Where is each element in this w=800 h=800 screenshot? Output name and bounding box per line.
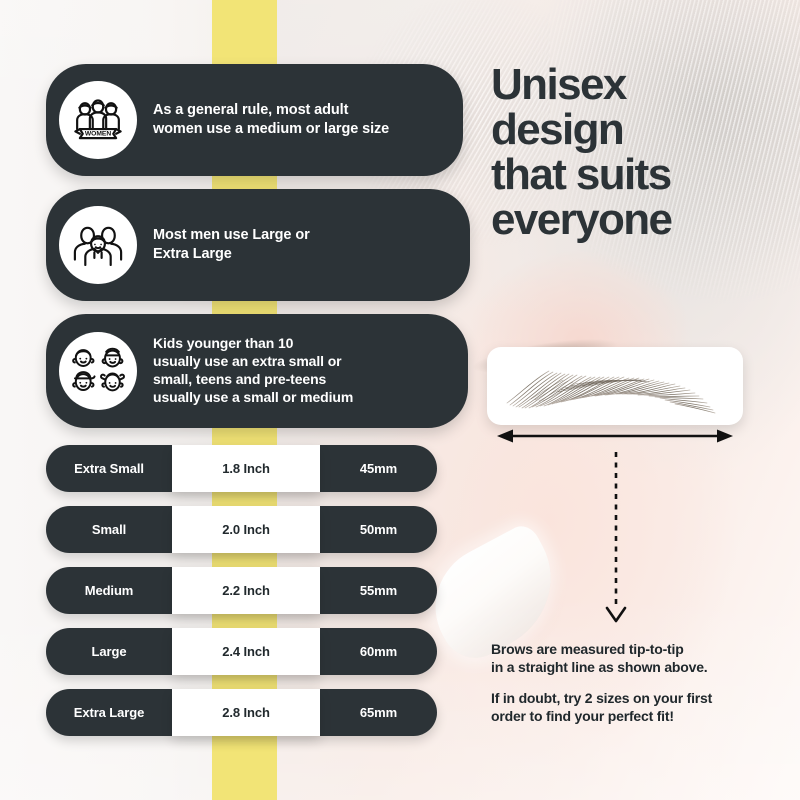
info-card-women-text: As a general rule, most adult women use … — [153, 101, 389, 139]
women-group-icon: WOMEN — [59, 81, 137, 159]
info-card-women: WOMEN As a general rule, most adult wome… — [46, 64, 463, 176]
infographic-canvas: WOMEN As a general rule, most adult wome… — [0, 0, 800, 800]
table-row: Extra Small 1.8 Inch 45mm — [46, 445, 437, 492]
size-name: Extra Large — [46, 689, 172, 736]
measurement-note: Brows are measured tip-to-tip in a strai… — [491, 640, 781, 677]
size-inch: 2.4 Inch — [172, 628, 320, 675]
size-inch: 1.8 Inch — [172, 445, 320, 492]
size-name: Extra Small — [46, 445, 172, 492]
size-mm: 50mm — [320, 506, 437, 553]
size-inch: 2.8 Inch — [172, 689, 320, 736]
size-inch: 2.2 Inch — [172, 567, 320, 614]
size-name: Medium — [46, 567, 172, 614]
info-card-men-text: Most men use Large or Extra Large — [153, 226, 310, 264]
dashed-down-arrow — [595, 452, 637, 627]
kids-faces-icon — [59, 332, 137, 410]
size-inch: 2.0 Inch — [172, 506, 320, 553]
info-card-kids-text: Kids younger than 10 usually use an extr… — [153, 335, 353, 407]
size-name: Large — [46, 628, 172, 675]
table-row: Medium 2.2 Inch 55mm — [46, 567, 437, 614]
info-card-kids: Kids younger than 10 usually use an extr… — [46, 314, 468, 428]
men-group-icon — [59, 206, 137, 284]
size-mm: 65mm — [320, 689, 437, 736]
tip-to-tip-measurement-arrow — [497, 428, 733, 444]
size-mm: 45mm — [320, 445, 437, 492]
size-name: Small — [46, 506, 172, 553]
table-row: Extra Large 2.8 Inch 65mm — [46, 689, 437, 736]
size-mm: 60mm — [320, 628, 437, 675]
women-banner-label: WOMEN — [85, 130, 112, 137]
info-card-men: Most men use Large or Extra Large — [46, 189, 470, 301]
sizing-advice-note: If in doubt, try 2 sizes on your first o… — [491, 689, 781, 726]
size-mm: 55mm — [320, 567, 437, 614]
table-row: Small 2.0 Inch 50mm — [46, 506, 437, 553]
page-title: Unisex design that suits everyone — [491, 63, 791, 243]
eyebrow-product-image — [487, 347, 743, 425]
table-row: Large 2.4 Inch 60mm — [46, 628, 437, 675]
